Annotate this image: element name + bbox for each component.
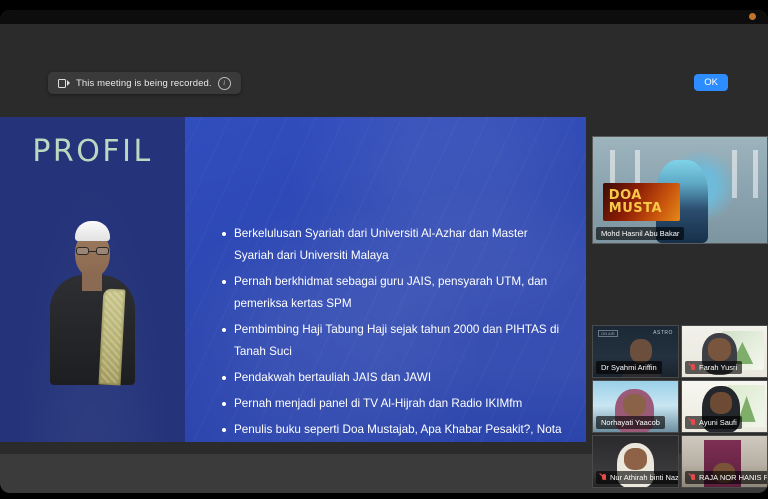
list-item: Pernah berkhidmat sebagai guru JAIS, pen… bbox=[222, 271, 562, 315]
meeting-stage: This meeting is being recorded. i OK PRO… bbox=[0, 24, 768, 454]
book-cover-title: DOA MUSTA bbox=[609, 189, 680, 215]
muted-mic-icon bbox=[690, 419, 696, 427]
participant-tile[interactable]: RAJA NOR HANIS PU... bbox=[681, 435, 768, 488]
list-item: Berkelulusan Syariah dari Universiti Al-… bbox=[222, 223, 562, 267]
video-camera-icon bbox=[58, 79, 70, 88]
participant-name: RAJA NOR HANIS PU... bbox=[699, 472, 768, 483]
bullet-text: Pernah menjadi panel di TV Al-Hijrah dan… bbox=[234, 393, 562, 415]
bullet-dot-icon bbox=[222, 328, 226, 332]
bullet-text: Pendakwah bertauliah JAIS dan JAWI bbox=[234, 367, 562, 389]
participant-name-label: Norhayati Yaacob bbox=[596, 416, 665, 429]
list-item: Pendakwah bertauliah JAIS dan JAWI bbox=[222, 367, 562, 389]
participant-name-label: Dr Syahmi Ariffin bbox=[596, 361, 662, 374]
participant-name: Farah Yusri bbox=[699, 362, 737, 373]
participant-name-label: Ayuni Saufi bbox=[685, 416, 742, 429]
bullet-text: Berkelulusan Syariah dari Universiti Al-… bbox=[234, 223, 562, 267]
info-icon[interactable]: i bbox=[218, 77, 231, 90]
participant-name-label: Nur Athirah binti Nazri bbox=[596, 471, 679, 484]
bullet-dot-icon bbox=[222, 376, 226, 380]
participant-name: Ayuni Saufi bbox=[699, 417, 737, 428]
active-speaker-tile[interactable]: DOA MUSTA Mohd Hasnil Abu Bakar bbox=[592, 136, 768, 244]
video-rail: DOA MUSTA Mohd Hasnil Abu Bakar bbox=[592, 136, 768, 244]
participant-tile[interactable]: Norhayati Yaacob bbox=[592, 380, 679, 433]
list-item: Penulis buku seperti Doa Mustajab, Apa K… bbox=[222, 419, 562, 442]
recording-banner-text: This meeting is being recorded. bbox=[76, 78, 212, 89]
bullet-dot-icon bbox=[222, 280, 226, 284]
bullet-dot-icon bbox=[222, 428, 226, 432]
bullet-dot-icon bbox=[222, 402, 226, 406]
participant-tile[interactable]: Ayuni Saufi bbox=[681, 380, 768, 433]
participant-name-label: Mohd Hasnil Abu Bakar bbox=[596, 227, 684, 240]
bullet-text: Penulis buku seperti Doa Mustajab, Apa K… bbox=[234, 419, 562, 442]
zoom-meeting-window: This meeting is being recorded. i OK PRO… bbox=[0, 0, 768, 499]
meeting-window-frame: This meeting is being recorded. i OK PRO… bbox=[0, 10, 768, 493]
participant-name: Norhayati Yaacob bbox=[601, 417, 660, 428]
muted-mic-icon bbox=[601, 474, 607, 482]
shared-screen-slide[interactable]: PROFIL USTAZ MOHD HASNIL ABU BAKAR Berke… bbox=[0, 117, 586, 442]
window-title-bar bbox=[0, 10, 768, 24]
bullet-text: Pernah berkhidmat sebagai guru JAIS, pen… bbox=[234, 271, 562, 315]
list-item: Pernah menjadi panel di TV Al-Hijrah dan… bbox=[222, 393, 562, 415]
bullet-dot-icon bbox=[222, 232, 226, 236]
muted-mic-icon bbox=[690, 474, 696, 482]
participant-name: Mohd Hasnil Abu Bakar bbox=[601, 228, 679, 239]
recording-indicator-icon bbox=[749, 13, 756, 20]
participant-tile[interactable]: ON AIRASTRO Dr Syahmi Ariffin bbox=[592, 325, 679, 378]
slide-bullet-list: Berkelulusan Syariah dari Universiti Al-… bbox=[222, 223, 562, 442]
ok-button[interactable]: OK bbox=[694, 74, 728, 91]
muted-mic-icon bbox=[690, 364, 696, 372]
participant-tile[interactable]: Farah Yusri bbox=[681, 325, 768, 378]
participant-grid: ON AIRASTRO Dr Syahmi Ariffin Farah Yusr… bbox=[592, 325, 768, 488]
recording-banner: This meeting is being recorded. i bbox=[48, 72, 241, 94]
participant-name-label: Farah Yusri bbox=[685, 361, 742, 374]
participant-tile[interactable]: Nur Athirah binti Nazri bbox=[592, 435, 679, 488]
participant-name: Dr Syahmi Ariffin bbox=[601, 362, 657, 373]
presenter-photo bbox=[46, 195, 139, 385]
participant-name-label: RAJA NOR HANIS PU... bbox=[685, 471, 768, 484]
slide-title: PROFIL bbox=[0, 134, 185, 169]
participant-name: Nur Athirah binti Nazri bbox=[610, 472, 679, 483]
bullet-text: Pembimbing Haji Tabung Haji sejak tahun … bbox=[234, 319, 562, 363]
list-item: Pembimbing Haji Tabung Haji sejak tahun … bbox=[222, 319, 562, 363]
